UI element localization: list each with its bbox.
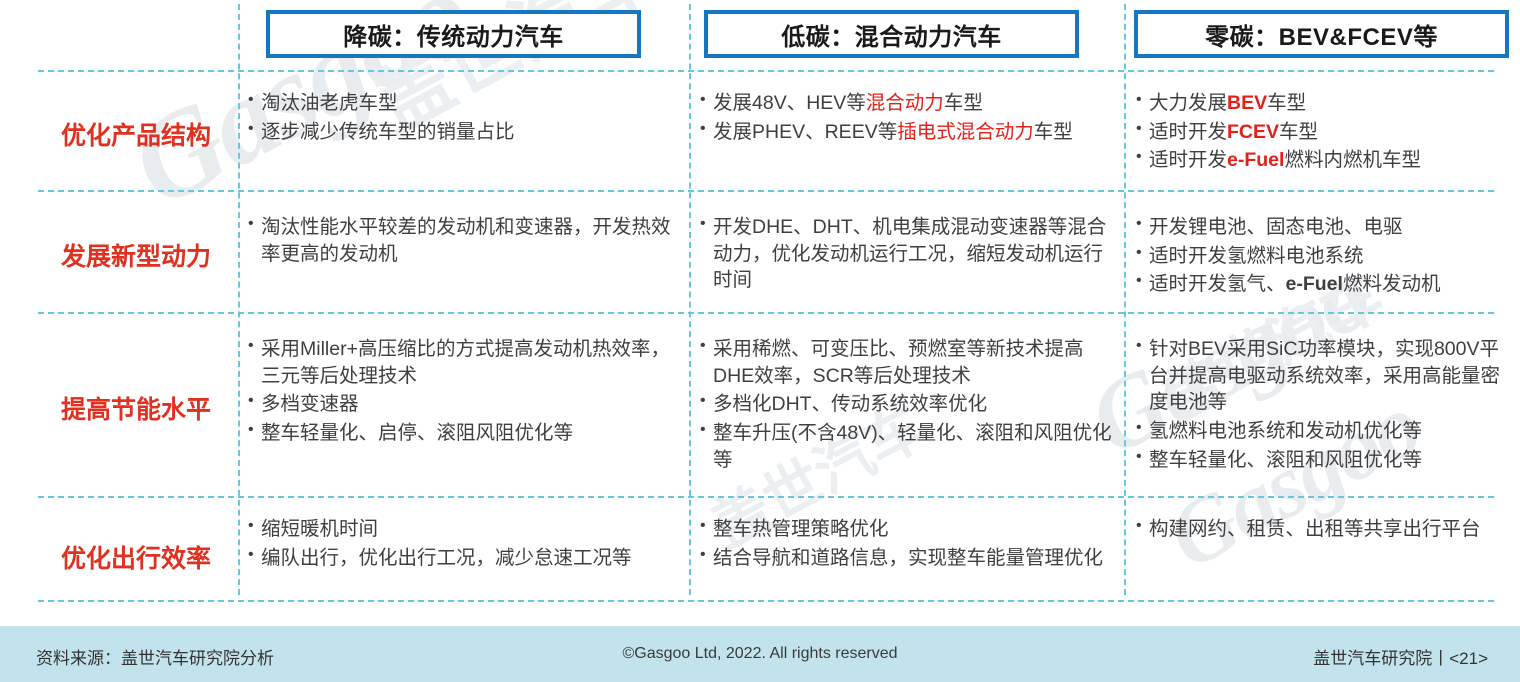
- row-separator: [38, 70, 1494, 72]
- bullet-text-run: 适时开发: [1149, 121, 1227, 143]
- bullet-item: 发展48V、HEV等混合动力车型: [700, 90, 1118, 117]
- bullet-list: 整车热管理策略优化结合导航和道路信息，实现整车能量管理优化: [700, 516, 1118, 571]
- bullet-text-run: 燃料发动机: [1343, 273, 1441, 295]
- column-header-label-2: 低碳：混合动力汽车: [781, 17, 1002, 52]
- bullet-text-run: 适时开发氢气、: [1149, 273, 1286, 295]
- bullet-item: 构建网约、租赁、出租等共享出行平台: [1136, 516, 1514, 543]
- bullet-text-run: 插电式混合动力: [897, 121, 1034, 143]
- bullet-item: 适时开发FCEV车型: [1136, 119, 1514, 146]
- bullet-list: 针对BEV采用SiC功率模块，实现800V平台并提高电驱动系统效率，采用高能量密…: [1136, 336, 1514, 474]
- cell-r1-c2: 发展48V、HEV等混合动力车型发展PHEV、REEV等插电式混合动力车型: [700, 90, 1118, 147]
- column-separator-2: [689, 4, 691, 595]
- bullet-item: 开发锂电池、固态电池、电驱: [1136, 214, 1514, 241]
- bullet-text-run: 车型: [1034, 121, 1073, 143]
- cell-r2-c3: 开发锂电池、固态电池、电驱适时开发氢燃料电池系统适时开发氢气、e-Fuel燃料发…: [1136, 214, 1514, 300]
- footer-bar: 资料来源：盖世汽车研究院分析 ©Gasgoo Ltd, 2022. All ri…: [0, 626, 1520, 682]
- cell-r3-c3: 针对BEV采用SiC功率模块，实现800V平台并提高电驱动系统效率，采用高能量密…: [1136, 336, 1514, 476]
- bullet-text-run: 发展48V、HEV等: [713, 92, 866, 114]
- bullet-item: 适时开发氢燃料电池系统: [1136, 243, 1514, 270]
- bullet-item: 整车升压(不含48V)、轻量化、滚阻和风阻优化等: [700, 420, 1118, 473]
- bullet-text-run: e-Fuel: [1286, 273, 1343, 295]
- bullet-item: 整车热管理策略优化: [700, 516, 1118, 543]
- bullet-text-run: e-Fuel: [1227, 149, 1284, 171]
- bullet-text-run: 车型: [1267, 92, 1306, 114]
- row-label-1: 优化产品结构: [38, 76, 234, 192]
- bullet-text-run: 适时开发: [1149, 149, 1227, 171]
- cell-r4-c2: 整车热管理策略优化结合导航和道路信息，实现整车能量管理优化: [700, 516, 1118, 573]
- row-label-2: 发展新型动力: [38, 196, 234, 314]
- row-separator: [38, 190, 1494, 192]
- bullet-list: 淘汰性能水平较差的发动机和变速器，开发热效率更高的发动机: [248, 214, 678, 267]
- bullet-text-run: 车型: [1279, 121, 1318, 143]
- bullet-item: 发展PHEV、REEV等插电式混合动力车型: [700, 119, 1118, 146]
- bullet-item: 针对BEV采用SiC功率模块，实现800V平台并提高电驱动系统效率，采用高能量密…: [1136, 336, 1514, 416]
- bullet-text-run: 车型: [944, 92, 983, 114]
- bullet-list: 采用稀燃、可变压比、预燃室等新技术提高DHE效率，SCR等后处理技术多档化DHT…: [700, 336, 1118, 474]
- bullet-item: 采用稀燃、可变压比、预燃室等新技术提高DHE效率，SCR等后处理技术: [700, 336, 1118, 389]
- bullet-item: 适时开发氢气、e-Fuel燃料发动机: [1136, 271, 1514, 298]
- column-header-box-2: 低碳：混合动力汽车: [704, 10, 1079, 58]
- row-separator-bottom: [38, 600, 1494, 602]
- row-separator: [38, 496, 1494, 498]
- bullet-item: 多档变速器: [248, 391, 678, 418]
- row-separator: [38, 312, 1494, 314]
- bullet-list: 构建网约、租赁、出租等共享出行平台: [1136, 516, 1514, 543]
- bullet-item: 氢燃料电池系统和发动机优化等: [1136, 418, 1514, 445]
- bullet-item: 多档化DHT、传动系统效率优化: [700, 391, 1118, 418]
- column-separator-1: [238, 4, 240, 595]
- cell-r2-c2: 开发DHE、DHT、机电集成混动变速器等混合动力，优化发动机运行工况，缩短发动机…: [700, 214, 1118, 296]
- cell-r2-c1: 淘汰性能水平较差的发动机和变速器，开发热效率更高的发动机: [248, 214, 678, 269]
- bullet-list: 发展48V、HEV等混合动力车型发展PHEV、REEV等插电式混合动力车型: [700, 90, 1118, 145]
- bullet-item: 编队出行，优化出行工况，减少怠速工况等: [248, 545, 678, 572]
- bullet-list: 采用Miller+高压缩比的方式提高发动机热效率，三元等后处理技术多档变速器整车…: [248, 336, 678, 447]
- bullet-list: 淘汰油老虎车型逐步减少传统车型的销量占比: [248, 90, 678, 145]
- bullet-item: 采用Miller+高压缩比的方式提高发动机热效率，三元等后处理技术: [248, 336, 678, 389]
- cell-r4-c1: 缩短暖机时间编队出行，优化出行工况，减少怠速工况等: [248, 516, 678, 573]
- row-label-3: 提高节能水平: [38, 318, 234, 498]
- footer-copyright: ©Gasgoo Ltd, 2022. All rights reserved: [0, 645, 1520, 663]
- column-header-box-3: 零碳：BEV&FCEV等: [1134, 10, 1509, 58]
- column-header-label-3: 零碳：BEV&FCEV等: [1205, 17, 1438, 52]
- bullet-list: 缩短暖机时间编队出行，优化出行工况，减少怠速工况等: [248, 516, 678, 571]
- cell-r3-c2: 采用稀燃、可变压比、预燃室等新技术提高DHE效率，SCR等后处理技术多档化DHT…: [700, 336, 1118, 476]
- bullet-item: 缩短暖机时间: [248, 516, 678, 543]
- bullet-item: 开发DHE、DHT、机电集成混动变速器等混合动力，优化发动机运行工况，缩短发动机…: [700, 214, 1118, 294]
- bullet-text-run: FCEV: [1227, 121, 1279, 143]
- cell-r4-c3: 构建网约、租赁、出租等共享出行平台: [1136, 516, 1514, 545]
- bullet-item: 结合导航和道路信息，实现整车能量管理优化: [700, 545, 1118, 572]
- cell-r1-c1: 淘汰油老虎车型逐步减少传统车型的销量占比: [248, 90, 678, 147]
- bullet-list: 开发锂电池、固态电池、电驱适时开发氢燃料电池系统适时开发氢气、e-Fuel燃料发…: [1136, 214, 1514, 298]
- column-header-row: 降碳：传统动力汽车 低碳：混合动力汽车 零碳：BEV&FCEV等: [0, 0, 1520, 68]
- bullet-text-run: 燃料内燃机车型: [1284, 149, 1421, 171]
- bullet-item: 整车轻量化、启停、滚阻风阻优化等: [248, 420, 678, 447]
- bullet-item: 适时开发e-Fuel燃料内燃机车型: [1136, 147, 1514, 174]
- bullet-list: 开发DHE、DHT、机电集成混动变速器等混合动力，优化发动机运行工况，缩短发动机…: [700, 214, 1118, 294]
- bullet-item: 淘汰油老虎车型: [248, 90, 678, 117]
- bullet-text-run: 混合动力: [866, 92, 944, 114]
- bullet-list: 大力发展BEV车型适时开发FCEV车型适时开发e-Fuel燃料内燃机车型: [1136, 90, 1514, 174]
- bullet-text-run: BEV: [1227, 92, 1267, 114]
- bullet-text-run: 发展PHEV、REEV等: [713, 121, 897, 143]
- cell-r1-c3: 大力发展BEV车型适时开发FCEV车型适时开发e-Fuel燃料内燃机车型: [1136, 90, 1514, 176]
- bullet-item: 整车轻量化、滚阻和风阻优化等: [1136, 447, 1514, 474]
- slide-body: 降碳：传统动力汽车 低碳：混合动力汽车 零碳：BEV&FCEV等 优化产品结构淘…: [0, 0, 1520, 682]
- bullet-item: 大力发展BEV车型: [1136, 90, 1514, 117]
- column-header-label-1: 降碳：传统动力汽车: [343, 17, 564, 52]
- bullet-text-run: 大力发展: [1149, 92, 1227, 114]
- column-separator-3: [1124, 4, 1126, 595]
- bullet-item: 淘汰性能水平较差的发动机和变速器，开发热效率更高的发动机: [248, 214, 678, 267]
- cell-r3-c1: 采用Miller+高压缩比的方式提高发动机热效率，三元等后处理技术多档变速器整车…: [248, 336, 678, 449]
- column-header-box-1: 降碳：传统动力汽车: [266, 10, 641, 58]
- row-label-4: 优化出行效率: [38, 502, 234, 612]
- bullet-item: 逐步减少传统车型的销量占比: [248, 119, 678, 146]
- footer-page: 盖世汽车研究院丨<21>: [1313, 644, 1488, 669]
